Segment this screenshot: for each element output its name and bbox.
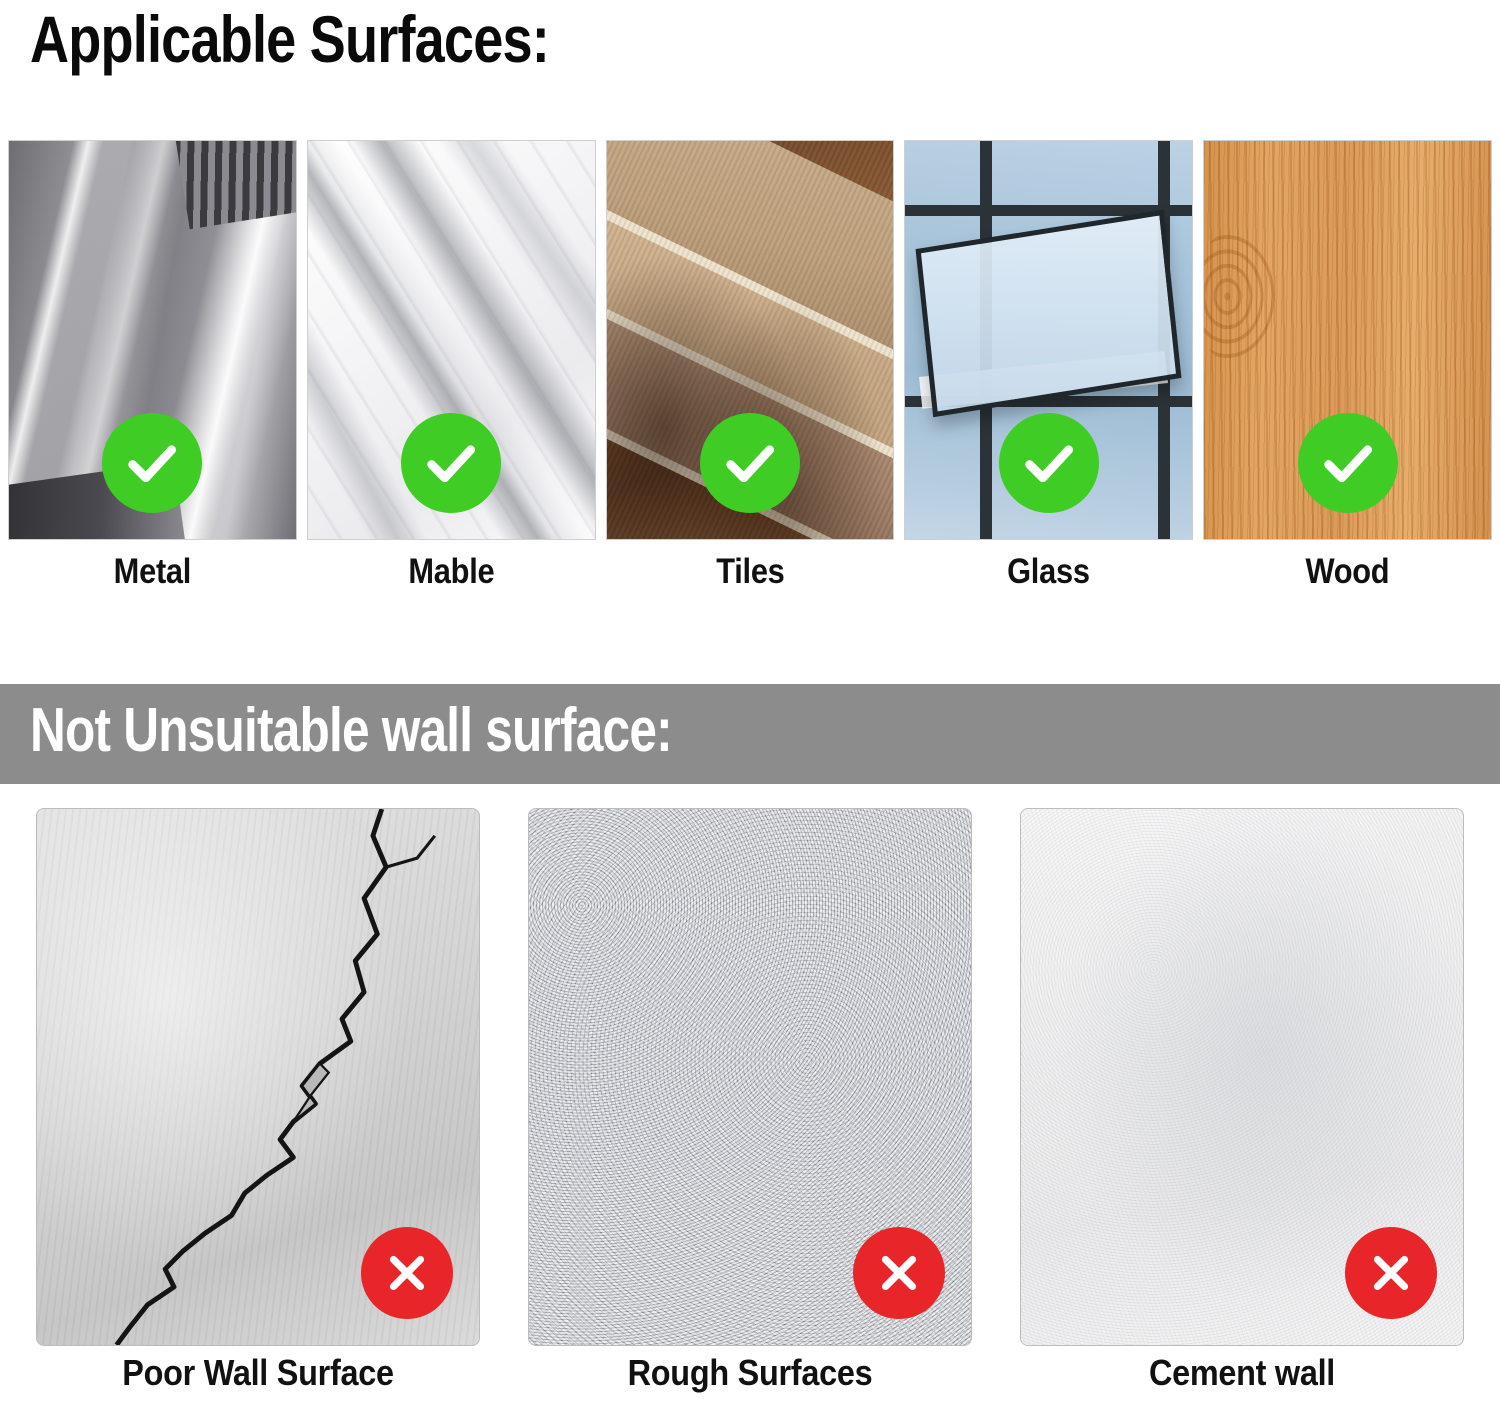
x-icon	[1345, 1227, 1437, 1319]
surface-label-rough: Rough Surfaces	[550, 1352, 950, 1394]
unsuitable-surfaces-row	[36, 808, 1464, 1346]
check-icon	[102, 413, 202, 513]
surface-card-tiles	[606, 140, 895, 540]
surface-label-cement: Cement wall	[1042, 1352, 1442, 1394]
surface-card-cement	[1020, 808, 1464, 1346]
surface-card-rough	[528, 808, 972, 1346]
unsuitable-surface-labels: Poor Wall Surface Rough Surfaces Cement …	[36, 1352, 1464, 1394]
surface-label-mable: Mable	[324, 552, 578, 592]
surface-label-wood: Wood	[1221, 552, 1475, 592]
check-icon	[999, 413, 1099, 513]
surface-card-mable	[307, 140, 596, 540]
surface-card-glass	[904, 140, 1193, 540]
surface-label-poor-wall: Poor Wall Surface	[58, 1352, 458, 1394]
check-icon	[700, 413, 800, 513]
check-icon	[1298, 413, 1398, 513]
x-icon	[361, 1227, 453, 1319]
surface-card-metal	[8, 140, 297, 540]
surface-label-glass: Glass	[922, 552, 1176, 592]
applicable-surfaces-row	[8, 140, 1492, 540]
page-title-applicable: Applicable Surfaces:	[30, 2, 549, 78]
applicable-surface-labels: Metal Mable Tiles Glass Wood	[8, 552, 1492, 592]
x-icon	[853, 1227, 945, 1319]
check-icon	[401, 413, 501, 513]
page-title-unsuitable: Not Unsuitable wall surface:	[30, 691, 672, 772]
surface-label-metal: Metal	[25, 552, 279, 592]
surface-card-wood	[1203, 140, 1492, 540]
surface-card-poor-wall	[36, 808, 480, 1346]
surface-label-tiles: Tiles	[623, 552, 877, 592]
